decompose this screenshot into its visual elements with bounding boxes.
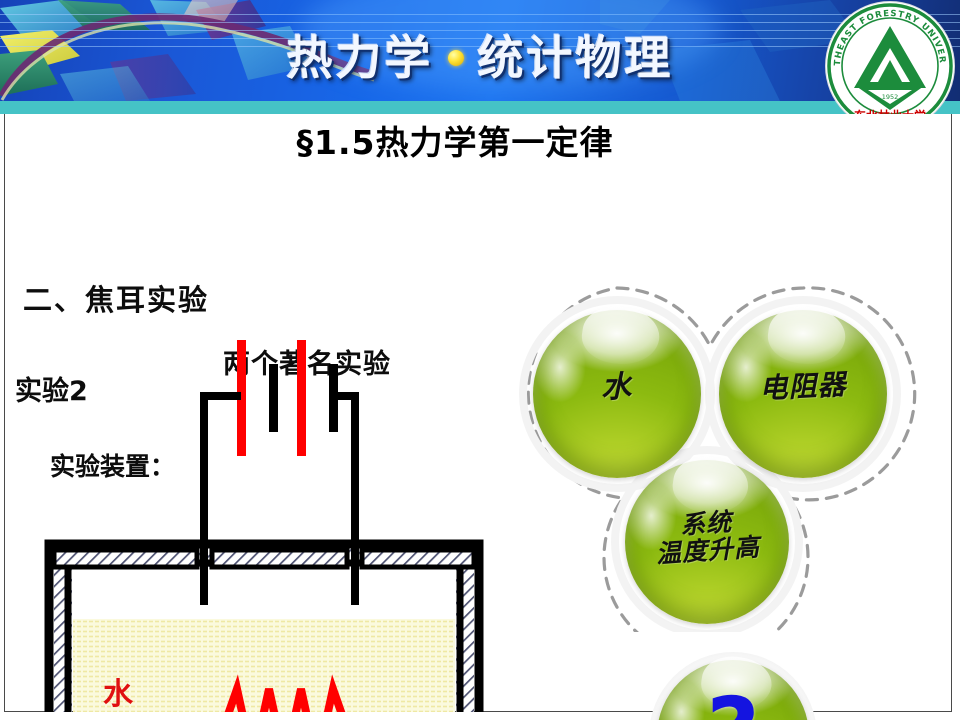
vessel-lid <box>54 550 474 567</box>
header-banner: 热力学gold-dot-separator统计物理 <box>0 0 960 101</box>
teal-divider-bar <box>0 101 960 114</box>
question-mark-label: ? <box>657 678 809 720</box>
water-label-in-vessel: 水 <box>103 677 134 712</box>
sphere-system[interactable]: 系统 温度升高 <box>625 460 789 624</box>
sphere-system-label: 系统 温度升高 <box>623 504 790 569</box>
slide-canvas: 热力学gold-dot-separator统计物理 NORTHEAST FORE… <box>0 0 960 720</box>
logo-year-text: 1952 <box>882 93 899 101</box>
university-logo: NORTHEAST FORESTRY UNIVERSITY 1952 东北林业大… <box>826 2 954 130</box>
battery-symbol-icon <box>237 340 338 456</box>
sphere-water[interactable]: 水 <box>533 310 701 478</box>
sphere-resistor[interactable]: 电阻器 <box>719 310 887 478</box>
joule-experiment-diagram: 水 <box>5 114 525 712</box>
sphere-question[interactable]: ? <box>657 660 809 720</box>
concept-sphere-cluster: 水 电阻器 系统 温度升高 <box>489 282 949 632</box>
sphere-resistor-label: 电阻器 <box>718 368 887 407</box>
slide-content-area: §1.5热力学第一定律 二、焦耳实验 两个著名实验 实验2 实验装置： 2017… <box>4 114 952 712</box>
sphere-water-label: 水 <box>532 369 701 407</box>
